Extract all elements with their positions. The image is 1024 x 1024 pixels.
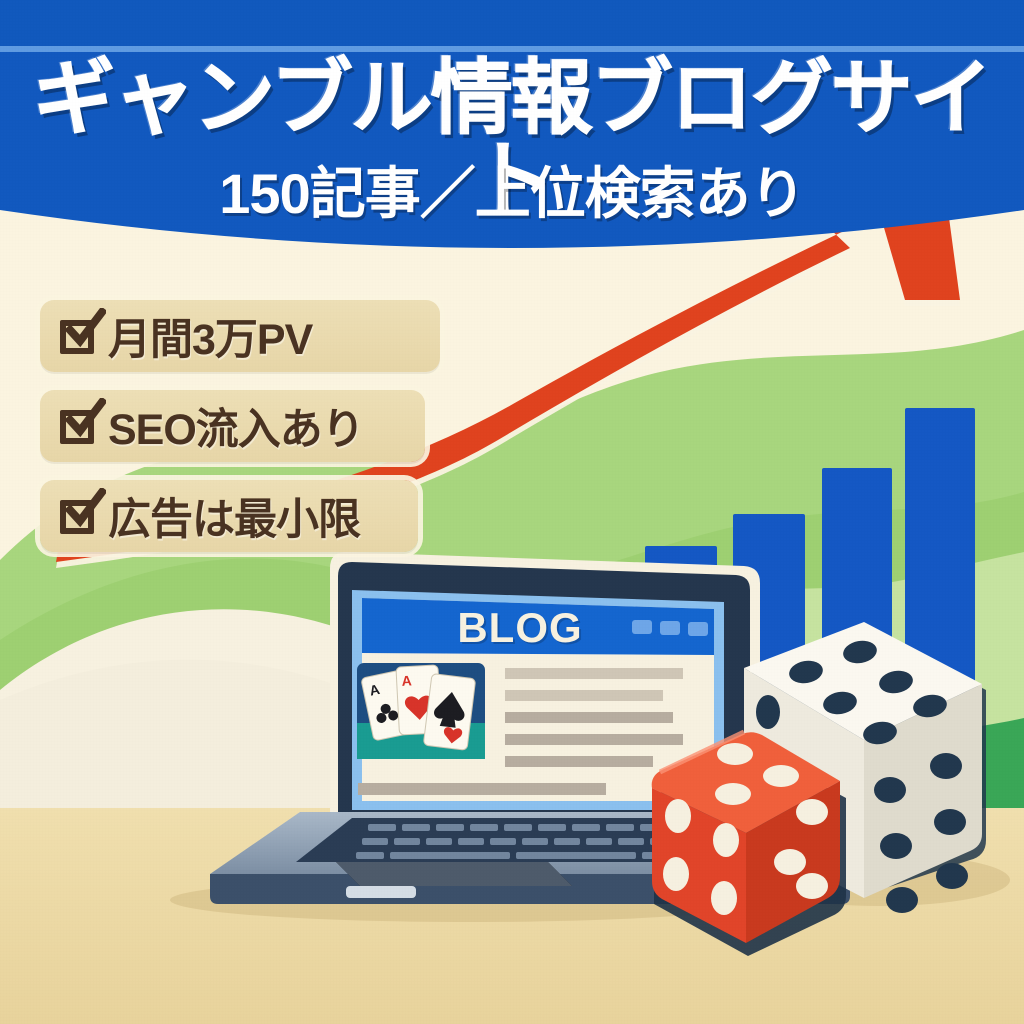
poster-canvas: A A <box>0 0 1024 1024</box>
paper-grain-overlay <box>0 0 1024 1024</box>
